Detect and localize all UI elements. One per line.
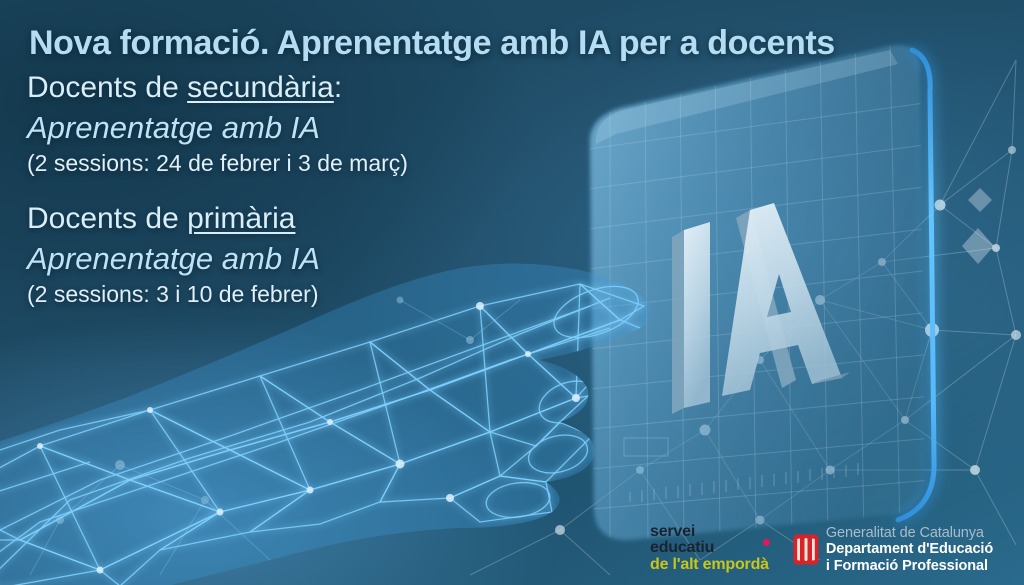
lead-underlined: primària (187, 202, 295, 235)
group-primaria-lead: Docents de primària (27, 203, 320, 235)
lead-underlined: secundària (187, 71, 334, 104)
servei-educatiu-dot-icon (763, 539, 770, 546)
lead-suffix: : (334, 71, 342, 104)
servei-educatiu-line2: educatiu (650, 540, 769, 556)
lead-prefix: Docents de (27, 71, 187, 104)
logo-bar: servei educatiu de l'alt empordà General (650, 524, 993, 574)
generalitat-line2: Departament d'Educació (826, 541, 993, 557)
servei-educatiu-line3: de l'alt empordà (650, 557, 769, 573)
catalonia-shield-icon (793, 534, 819, 565)
page-title: Nova formació. Aprenentatge amb IA per a… (29, 24, 835, 63)
group-secundaria: Docents de secundària: Aprenentatge amb … (27, 72, 408, 177)
group-primaria-course: Aprenentatge amb IA (27, 240, 320, 279)
group-secundaria-sessions: (2 sessions: 24 de febrer i 3 de març) (27, 150, 408, 177)
generalitat-line1: Generalitat de Catalunya (826, 525, 993, 541)
group-secundaria-course: Aprenentatge amb IA (27, 109, 408, 148)
servei-educatiu-logo: servei educatiu de l'alt empordà (650, 524, 769, 574)
lead-prefix: Docents de (27, 202, 187, 235)
group-primaria-sessions: (2 sessions: 3 i 10 de febrer) (27, 281, 320, 308)
servei-educatiu-line1: servei (650, 524, 769, 540)
generalitat-logo: Generalitat de Catalunya Departament d'E… (793, 525, 993, 574)
group-primaria: Docents de primària Aprenentatge amb IA … (27, 203, 320, 308)
generalitat-line3: i Formació Professional (826, 558, 993, 574)
generalitat-text: Generalitat de Catalunya Departament d'E… (826, 525, 993, 574)
group-secundaria-lead: Docents de secundària: (27, 72, 408, 104)
poster-canvas: Nova formació. Aprenentatge amb IA per a… (0, 0, 1024, 585)
